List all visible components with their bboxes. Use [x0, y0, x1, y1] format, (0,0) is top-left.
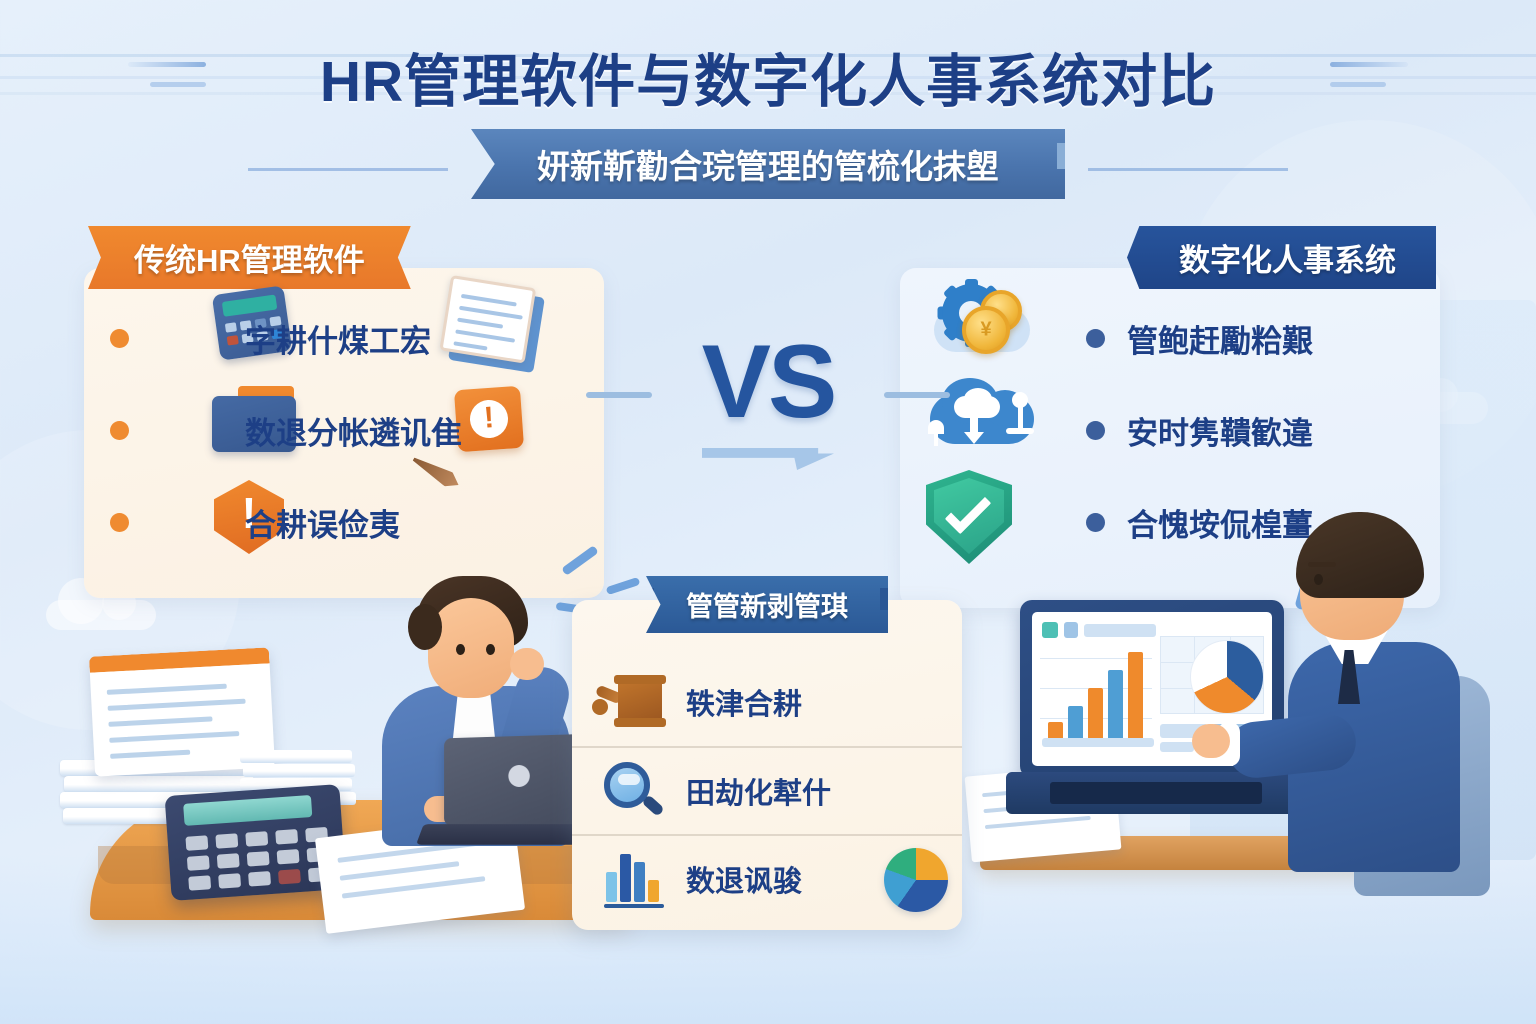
bullet-dot-icon: [110, 513, 129, 532]
left-panel: 传统HR管理软件 ! ! 字耕什煤工宏 数退分帐遴讥隹: [84, 268, 604, 598]
vs-line-right: [884, 392, 950, 398]
bullet-dot-icon: [110, 421, 129, 440]
screen-chip-2: [1064, 622, 1078, 638]
left-panel-banner: 传统HR管理软件: [88, 226, 411, 289]
chart-bar: [634, 862, 645, 902]
subtitle-rule-right: [1088, 168, 1288, 171]
magnifier-icon: [596, 756, 670, 826]
dashboard-laptop: [1020, 600, 1300, 840]
chart-bar: [1088, 688, 1103, 740]
page-title-container: HR管理软件与数字化人事系统对比: [0, 36, 1536, 118]
left-bullet-1: 字耕什煤工宏: [84, 292, 604, 384]
card-row-2-label: 田劫化犎什: [686, 770, 831, 812]
chart-bar: [1068, 706, 1083, 740]
businessman-illustration: [1280, 500, 1530, 920]
center-card-rows: 轶津合耕 田劫化犎什 数退讽骏: [572, 658, 962, 922]
card-row-3-label: 数退讽骏: [686, 858, 802, 900]
right-bullet-2-label: 安时隽鞼歓違: [1127, 408, 1313, 453]
left-bullet-3-label: 合耕误俭夷: [245, 500, 400, 545]
chart-bar: [620, 854, 631, 902]
right-bullet-1-label: 管鲍赶勵粭艱: [1127, 316, 1313, 361]
card-row-3: 数退讽骏: [572, 834, 962, 922]
vs-divider: VS: [640, 330, 896, 500]
vs-arrow-icon: [702, 448, 834, 470]
right-bullet-1: 管鲍赶勵粭艱: [1060, 292, 1440, 384]
center-card-banner: 管管新剥管琪: [646, 576, 888, 633]
subtitle-rule-left: [248, 168, 448, 171]
bar-chart-icon: [596, 844, 670, 914]
subtitle-ribbon: 妍新靳勸合琓管理的管梳化抹塱: [471, 129, 1065, 199]
bullet-dot-icon: [110, 329, 129, 348]
pie-chart-icon: [884, 848, 948, 912]
chart-bar: [1108, 670, 1123, 740]
page-title: HR管理软件与数字化人事系统对比: [320, 36, 1216, 118]
chart-baseline: [1042, 738, 1154, 747]
card-row-1: 轶津合耕: [572, 658, 962, 746]
vs-line-left: [586, 392, 652, 398]
bg-cloud-left: [46, 600, 156, 630]
bullet-dot-icon: [1086, 513, 1105, 532]
vs-label: VS: [640, 330, 896, 434]
card-row-2: 田劫化犎什: [572, 746, 962, 834]
left-bullet-3: 合耕误俭夷: [84, 476, 604, 568]
gavel-icon: [596, 667, 670, 737]
screen-skeleton: [1160, 742, 1194, 752]
card-row-1-label: 轶津合耕: [686, 681, 802, 723]
center-card: 管管新剥管琪 轶津合耕 田劫化犎什: [572, 600, 962, 930]
chart-bar: [648, 880, 659, 902]
left-panel-bullets: 字耕什煤工宏 数退分帐遴讥隹 合耕误俭夷: [84, 292, 604, 568]
chart-bar: [606, 872, 617, 902]
right-panel-banner: 数字化人事系统: [1127, 226, 1436, 289]
screen-chip-1: [1042, 622, 1058, 638]
screen-titlebar: [1084, 624, 1156, 637]
screen-bar-chart: [1044, 648, 1152, 740]
bullet-dot-icon: [1086, 329, 1105, 348]
left-bullet-2: 数退分帐遴讥隹: [84, 384, 604, 476]
bullet-dot-icon: [1086, 421, 1105, 440]
pie-chart-icon: [1190, 640, 1264, 714]
stress-spark-icon: [606, 577, 641, 595]
left-bullet-1-label: 字耕什煤工宏: [245, 316, 431, 361]
right-bullet-2: 安时隽鞼歓違: [1060, 384, 1440, 476]
left-bullet-2-label: 数退分帐遴讥隹: [245, 408, 462, 453]
chart-bar: [1128, 652, 1143, 740]
